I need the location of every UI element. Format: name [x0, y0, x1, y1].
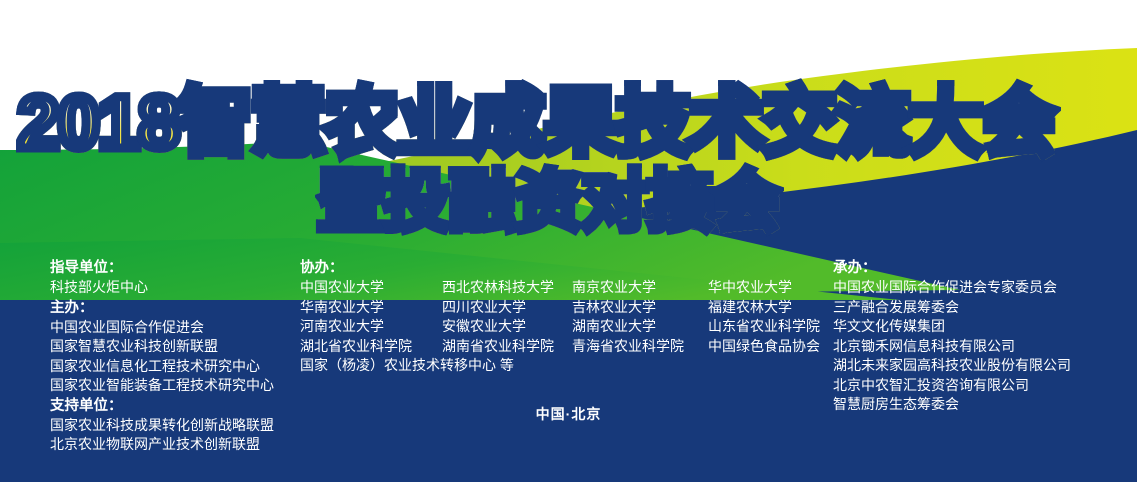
coorganizer-item: 中国绿色食品协会	[708, 337, 820, 357]
guidance-item: 科技部火炬中心	[50, 278, 300, 298]
host-heading: 主办：	[50, 298, 300, 318]
organizer-heading: 承办：	[833, 258, 1133, 278]
host-item: 国家农业信息化工程技术研究中心	[50, 357, 300, 377]
coorganizer-item: 华南农业大学	[300, 298, 442, 318]
organizer-item: 三产融合发展筹委会	[833, 298, 1133, 318]
coorganizer-item: 青海省农业科学院	[572, 337, 708, 357]
coorganizer-item: 南京农业大学	[572, 278, 708, 298]
event-location: 中国·北京	[0, 404, 1137, 424]
coorganizer-item: 中国农业大学	[300, 278, 442, 298]
coorganizer-item: 山东省农业科学院	[708, 317, 820, 337]
coorganizer-last-line: 国家（杨凌）农业技术转移中心 等	[300, 356, 820, 376]
coorganizer-item: 湖北省农业科学院	[300, 337, 442, 357]
conference-banner: 2018智慧农业成果技术交流大会 暨投融资对接会 指导单位： 科技部火炬中心 主…	[0, 0, 1137, 482]
coorganizer-item: 河南农业大学	[300, 317, 442, 337]
organizer-info: 指导单位： 科技部火炬中心 主办： 中国农业国际合作促进会 国家智慧农业科技创新…	[0, 258, 1137, 458]
coorganizer-item: 华中农业大学	[708, 278, 820, 298]
coorganizer-item: 福建农林大学	[708, 298, 820, 318]
guidance-heading: 指导单位：	[50, 258, 300, 278]
coorganizer-heading: 协办：	[300, 258, 820, 278]
host-item: 国家农业智能装备工程技术研究中心	[50, 376, 300, 396]
organizer-item: 北京中农智汇投资咨询有限公司	[833, 376, 1133, 396]
column-coorganizer: 协办： 中国农业大学 西北农林科技大学 南京农业大学 华中农业大学 华南农业大学…	[300, 258, 820, 376]
coorganizer-grid: 中国农业大学 西北农林科技大学 南京农业大学 华中农业大学 华南农业大学 四川农…	[300, 278, 820, 376]
coorganizer-item: 湖南省农业科学院	[442, 337, 572, 357]
host-item: 国家智慧农业科技创新联盟	[50, 337, 300, 357]
coorganizer-item: 湖南农业大学	[572, 317, 708, 337]
host-item: 中国农业国际合作促进会	[50, 318, 300, 338]
organizer-item: 北京锄禾网信息科技有限公司	[833, 337, 1133, 357]
column-left: 指导单位： 科技部火炬中心 主办： 中国农业国际合作促进会 国家智慧农业科技创新…	[50, 258, 300, 455]
coorganizer-item: 西北农林科技大学	[442, 278, 572, 298]
column-organizer: 承办： 中国农业国际合作促进会专家委员会 三产融合发展筹委会 华文文化传媒集团 …	[833, 258, 1133, 415]
organizer-item: 湖北未来家园高科技农业股份有限公司	[833, 356, 1133, 376]
coorganizer-item: 吉林农业大学	[572, 298, 708, 318]
organizer-item: 华文文化传媒集团	[833, 317, 1133, 337]
support-item: 北京农业物联网产业技术创新联盟	[50, 435, 300, 455]
organizer-item: 中国农业国际合作促进会专家委员会	[833, 278, 1133, 298]
coorganizer-item: 四川农业大学	[442, 298, 572, 318]
coorganizer-item: 安徽农业大学	[442, 317, 572, 337]
